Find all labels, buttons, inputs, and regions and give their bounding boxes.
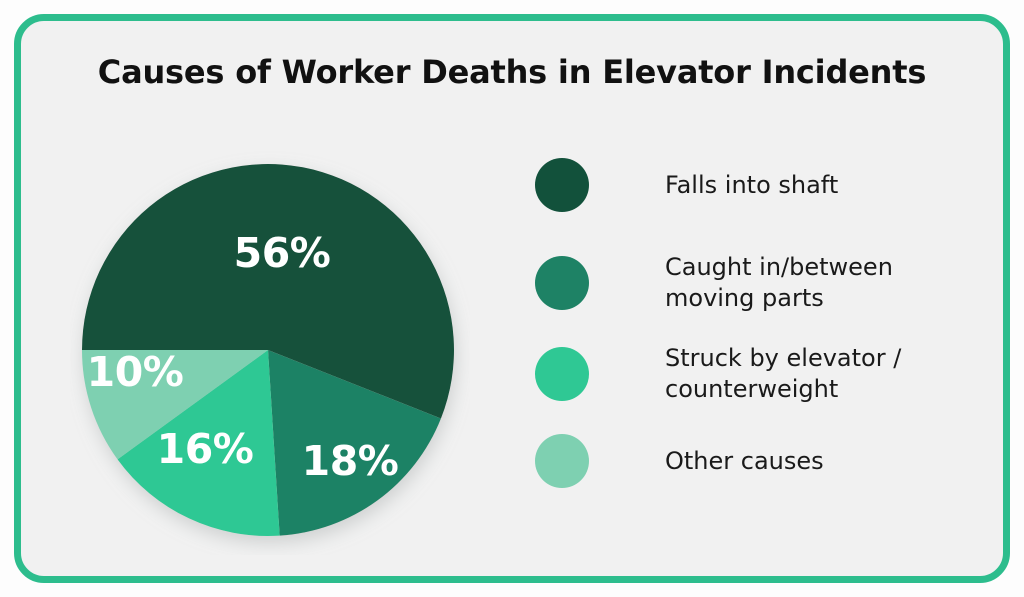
- legend-item-other-causes[interactable]: Other causes: [535, 434, 985, 488]
- legend-swatch-icon: [535, 347, 589, 401]
- pie-label-18: 18%: [302, 437, 399, 485]
- pie-label-56: 56%: [234, 229, 331, 277]
- legend-item-caught-in-between[interactable]: Caught in/between moving parts: [535, 252, 985, 313]
- legend-swatch-icon: [535, 434, 589, 488]
- legend-swatch-icon: [535, 256, 589, 310]
- pie-chart: 56% 18% 16% 10%: [70, 150, 470, 555]
- legend-swatch-icon: [535, 158, 589, 212]
- legend-item-label: Falls into shaft: [665, 170, 838, 201]
- pie-label-16: 16%: [157, 425, 254, 473]
- infographic-canvas: Causes of Worker Deaths in Elevator Inci…: [0, 0, 1024, 597]
- pie-chart-svg: 56% 18% 16% 10%: [70, 150, 470, 555]
- legend-item-struck-by-elevator[interactable]: Struck by elevator / counterweight: [535, 343, 985, 404]
- legend-item-falls-into-shaft[interactable]: Falls into shaft: [535, 158, 985, 212]
- page-title: Causes of Worker Deaths in Elevator Inci…: [0, 55, 1024, 90]
- legend-item-label: Struck by elevator / counterweight: [665, 343, 901, 404]
- pie-label-10: 10%: [87, 348, 184, 396]
- legend-item-label: Caught in/between moving parts: [665, 252, 893, 313]
- legend-item-label: Other causes: [665, 446, 824, 477]
